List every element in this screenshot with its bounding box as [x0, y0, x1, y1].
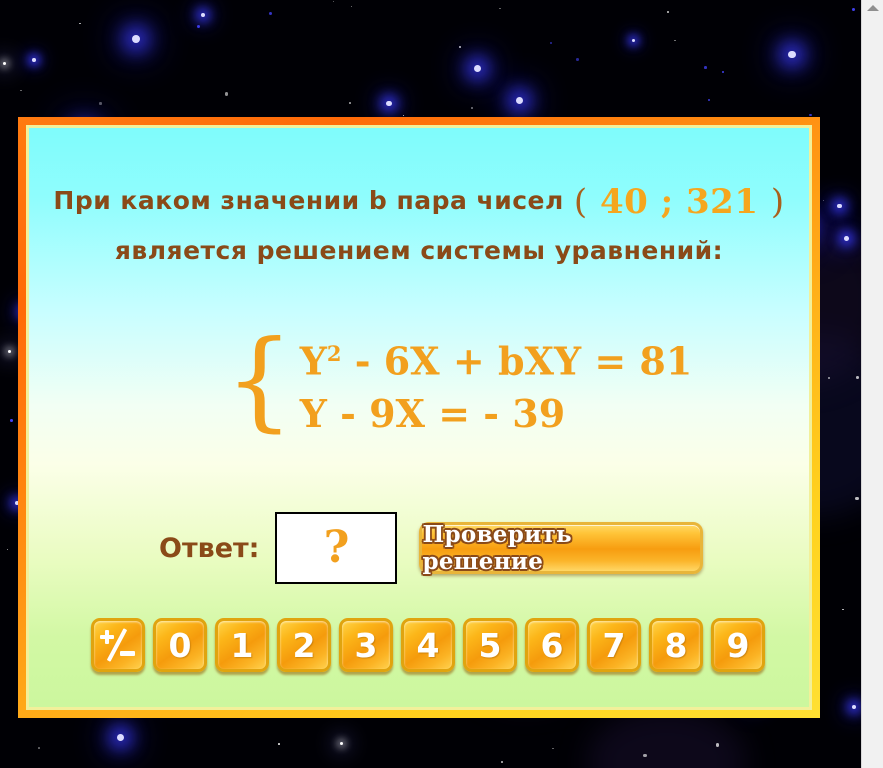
star — [722, 71, 724, 73]
key-label: 6 — [541, 629, 564, 662]
star — [32, 58, 36, 62]
star — [333, 1, 334, 2]
key-label: 1 — [231, 629, 254, 662]
equation-line-2: Y - 9X = - 39 — [300, 388, 693, 440]
question-line-1: При каком значении b пара чисел( 40 ; 32… — [29, 182, 809, 222]
star-sparkle — [3, 62, 6, 65]
key-label: 0 — [169, 629, 192, 662]
key-digit-8[interactable]: 8 — [649, 618, 703, 672]
star — [499, 8, 500, 9]
star — [704, 66, 707, 69]
plus-minus-icon — [99, 628, 137, 662]
star — [7, 549, 8, 550]
star — [828, 377, 830, 379]
star — [809, 114, 812, 117]
key-label: 8 — [665, 629, 688, 662]
star — [278, 743, 280, 745]
star — [471, 107, 473, 109]
key-digit-6[interactable]: 6 — [525, 618, 579, 672]
star — [674, 40, 675, 41]
pair-open-paren: ( — [574, 182, 588, 222]
star — [10, 419, 13, 422]
star — [837, 204, 842, 209]
key-label: 4 — [417, 629, 440, 662]
equation-1-exponent: 2 — [327, 341, 342, 366]
star — [225, 92, 228, 95]
star — [38, 747, 40, 749]
pair-first-number: 40 — [600, 182, 648, 222]
star — [474, 65, 481, 72]
scroll-up-arrow-icon[interactable] — [867, 5, 879, 11]
vertical-scrollbar[interactable] — [861, 0, 883, 768]
equation-line-1: Y2 - 6X + bXY = 81 — [300, 328, 693, 388]
key-digit-0[interactable]: 0 — [153, 618, 207, 672]
pair-second-number: 321 — [686, 182, 758, 222]
key-digit-9[interactable]: 9 — [711, 618, 765, 672]
star — [842, 609, 844, 611]
answer-value: ? — [324, 526, 350, 570]
key-digit-7[interactable]: 7 — [587, 618, 641, 672]
star — [855, 497, 858, 500]
star — [552, 748, 553, 749]
plus-minus-slash — [107, 628, 127, 662]
equation-system: { Y2 - 6X + bXY = 81 Y - 9X = - 39 — [225, 328, 692, 440]
star — [20, 90, 21, 91]
slide-viewer: При каком значении b пара чисел( 40 ; 32… — [0, 0, 883, 768]
star — [852, 705, 857, 710]
plus-minus-minus — [120, 651, 135, 656]
slide-frame-inner-line: При каком значении b пара чисел( 40 ; 32… — [26, 125, 812, 710]
key-sign-toggle[interactable] — [91, 618, 145, 672]
star — [516, 97, 523, 104]
star-sparkle — [340, 742, 343, 745]
star — [197, 25, 200, 28]
star — [550, 42, 552, 44]
key-digit-3[interactable]: 3 — [339, 618, 393, 672]
key-digit-4[interactable]: 4 — [401, 618, 455, 672]
check-solution-label: Проверить решение — [422, 521, 700, 575]
equation-1-rest: - 6X + bXY = 81 — [341, 339, 692, 384]
answer-input[interactable]: ? — [275, 512, 397, 584]
star — [788, 51, 796, 59]
star — [852, 8, 855, 11]
star — [269, 12, 272, 15]
star — [632, 39, 636, 43]
key-digit-1[interactable]: 1 — [215, 618, 269, 672]
question-line-1-text: При каком значении b пара чисел — [53, 186, 563, 215]
star — [667, 11, 669, 13]
slide-frame: При каком значении b пара чисел( 40 ; 32… — [18, 117, 820, 718]
equation-lines: Y2 - 6X + bXY = 81 Y - 9X = - 39 — [300, 328, 693, 440]
star — [132, 35, 140, 43]
star — [386, 101, 391, 106]
key-digit-2[interactable]: 2 — [277, 618, 331, 672]
star — [708, 99, 710, 101]
equation-brace: { — [225, 335, 294, 427]
answer-label: Ответ: — [159, 533, 259, 564]
equation-1-base: Y — [300, 339, 327, 384]
plus-minus-plus-v — [105, 630, 109, 644]
pair-separator: ; — [661, 182, 674, 222]
star — [99, 102, 101, 104]
key-label: 3 — [355, 629, 378, 662]
star — [201, 13, 206, 18]
number-keypad: 0123456789 — [91, 618, 765, 672]
star — [351, 6, 352, 7]
answer-row: Ответ: ? Проверить решение — [29, 512, 809, 584]
check-solution-button[interactable]: Проверить решение — [419, 522, 703, 574]
star — [79, 23, 81, 25]
star-sparkle — [8, 350, 11, 353]
slide-panel: При каком значении b пара чисел( 40 ; 32… — [29, 128, 809, 707]
star — [716, 743, 719, 746]
star — [823, 200, 824, 201]
star — [117, 734, 124, 741]
star — [856, 376, 859, 379]
key-label: 5 — [479, 629, 502, 662]
key-label: 9 — [727, 629, 750, 662]
star — [643, 754, 646, 757]
key-label: 2 — [293, 629, 316, 662]
key-label: 7 — [603, 629, 626, 662]
star — [576, 58, 579, 61]
star — [459, 46, 461, 48]
number-pair: ( 40 ; 321 ) — [574, 182, 785, 222]
star — [349, 102, 351, 104]
key-digit-5[interactable]: 5 — [463, 618, 517, 672]
star — [501, 761, 502, 762]
question-line-2: является решением системы уравнений: — [29, 236, 809, 265]
pair-close-paren: ) — [771, 182, 785, 222]
